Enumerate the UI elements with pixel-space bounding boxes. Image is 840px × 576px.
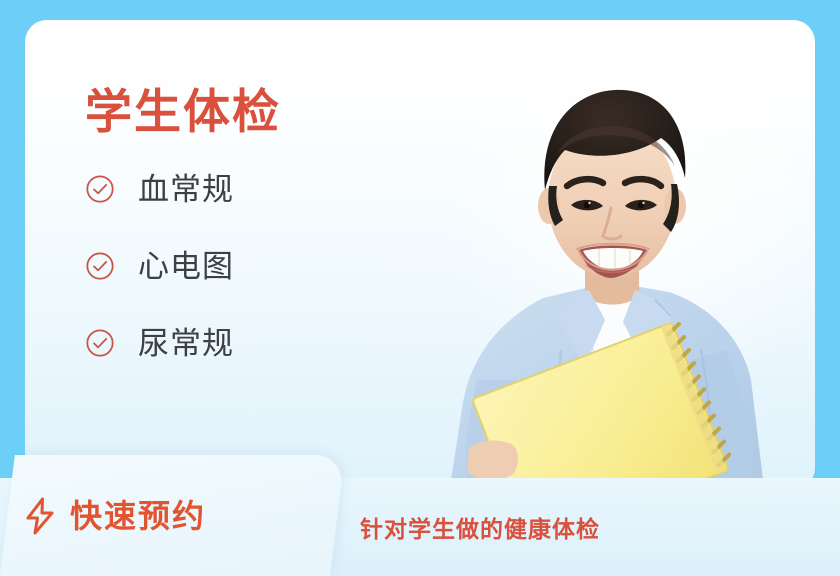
list-item-label: 心电图 <box>138 251 234 282</box>
main-card: 学生体检 血常规 心电图 <box>25 20 815 490</box>
list-item-label: 尿常规 <box>138 328 234 359</box>
quick-booking-label: 快速预约 <box>70 500 206 532</box>
checklist: 血常规 心电图 尿常规 <box>85 169 445 363</box>
student-photo <box>433 50 793 490</box>
list-item: 心电图 <box>85 246 445 286</box>
lightning-bolt-icon <box>24 497 56 535</box>
check-circle-icon <box>85 328 115 358</box>
list-item: 血常规 <box>85 169 445 209</box>
card-glow <box>435 20 815 410</box>
copy-block: 学生体检 血常规 心电图 <box>85 88 445 363</box>
quick-booking-button[interactable]: 快速预约 <box>0 455 330 576</box>
check-circle-icon <box>85 251 115 281</box>
promo-banner: 学生体检 血常规 心电图 <box>0 0 840 576</box>
list-item: 尿常规 <box>85 323 445 363</box>
page-title: 学生体检 <box>85 88 445 135</box>
check-circle-icon <box>85 174 115 204</box>
tagline: 针对学生做的健康体检 <box>360 478 600 576</box>
list-item-label: 血常规 <box>138 174 234 205</box>
